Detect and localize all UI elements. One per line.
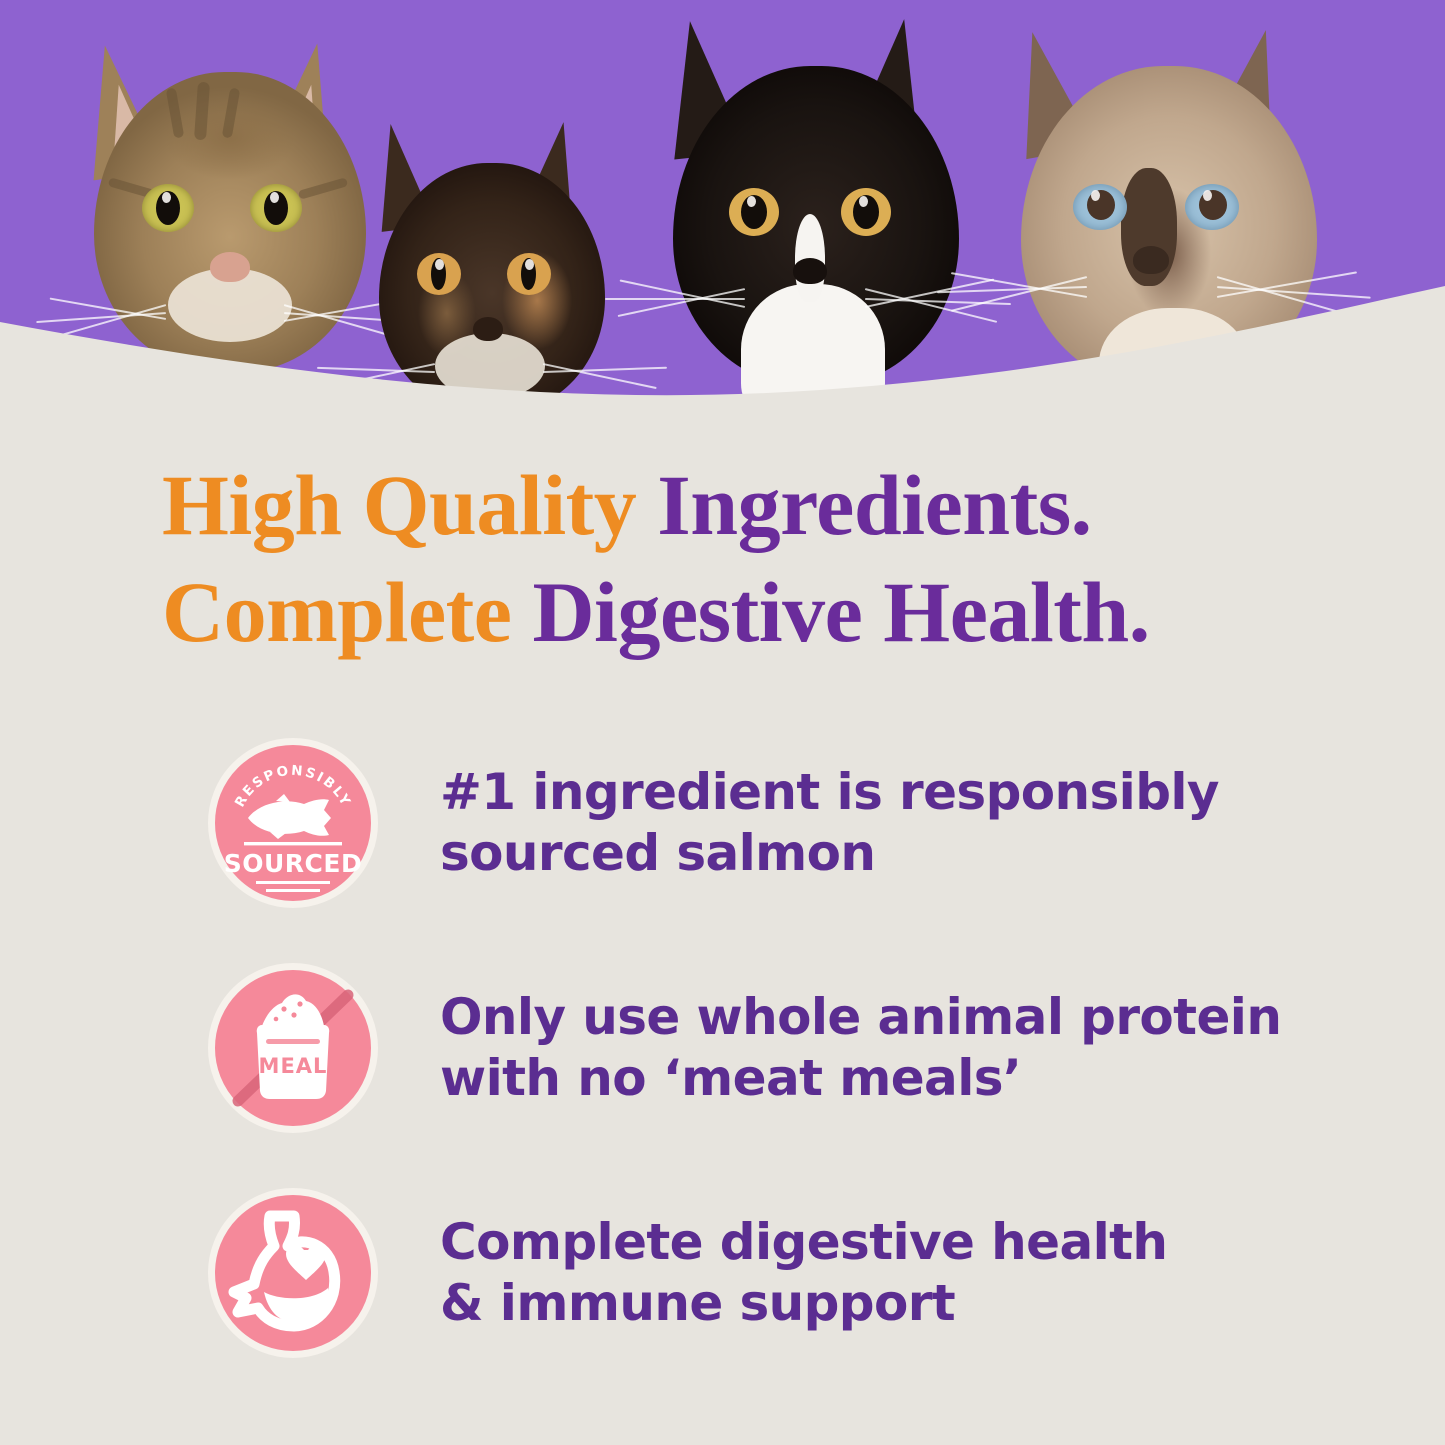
headline-line-1: High Quality Ingredients. bbox=[162, 452, 1342, 559]
feature-row-responsibly-sourced: RESPONSIBLY SOURCED #1 ingredient is res… bbox=[208, 728, 1348, 918]
meal-bag-label: MEAL bbox=[259, 1054, 328, 1078]
meal-bag-glyph: MEAL bbox=[208, 963, 378, 1133]
tortoiseshell-kitten bbox=[355, 105, 630, 420]
stomach-heart-digestive-health-icon bbox=[208, 1188, 378, 1358]
headline-line-1-purple: Ingredients. bbox=[657, 457, 1091, 553]
cat-group bbox=[0, 0, 1445, 420]
feature-list: RESPONSIBLY SOURCED #1 ingredient is res… bbox=[208, 728, 1348, 1368]
no-meat-meal-bag-icon: MEAL bbox=[208, 963, 378, 1133]
feature-row-digestive-health: Complete digestive health & immune suppo… bbox=[208, 1178, 1348, 1368]
feature-text-line-2: sourced salmon bbox=[440, 823, 1219, 884]
headline-line-2-purple: Digestive Health. bbox=[532, 564, 1149, 660]
headline-line-1-orange: High Quality bbox=[162, 457, 657, 553]
cat-eye-glint bbox=[747, 196, 756, 207]
cat-nose bbox=[210, 252, 250, 282]
cat-eye-glint bbox=[162, 192, 171, 203]
feature-row-no-meat-meals: MEAL Only use whole animal protein with … bbox=[208, 953, 1348, 1143]
cat-eye-glint bbox=[1091, 190, 1100, 201]
feature-text-no-meat-meals: Only use whole animal protein with no ‘m… bbox=[440, 987, 1281, 1109]
ragdoll-cat bbox=[995, 8, 1345, 420]
cat-eye-glint bbox=[435, 259, 444, 270]
cat-nose bbox=[1133, 246, 1169, 274]
cat-eye-glint bbox=[859, 196, 868, 207]
svg-text:SOURCED: SOURCED bbox=[224, 849, 363, 878]
cat-whisker bbox=[605, 298, 745, 300]
feature-text-line-1: Only use whole animal protein bbox=[440, 987, 1281, 1048]
tuxedo-cat bbox=[645, 6, 985, 420]
cat-eye-glint bbox=[525, 259, 534, 270]
cat-eye-glint bbox=[270, 192, 279, 203]
feature-text-responsibly-sourced: #1 ingredient is responsibly sourced sal… bbox=[440, 762, 1219, 884]
feature-text-line-1: Complete digestive health bbox=[440, 1212, 1167, 1273]
cat-eye-glint bbox=[1203, 190, 1212, 201]
stomach-heart-glyph bbox=[208, 1188, 378, 1358]
cat-nose bbox=[793, 258, 827, 284]
responsibly-sourced-badge-glyph: RESPONSIBLY SOURCED bbox=[208, 738, 378, 908]
feature-text-line-2: & immune support bbox=[440, 1273, 1167, 1334]
responsibly-sourced-fish-badge-icon: RESPONSIBLY SOURCED bbox=[208, 738, 378, 908]
brown-tabby-cat bbox=[70, 16, 390, 420]
cat-photo-banner bbox=[0, 0, 1445, 420]
cat-muzzle bbox=[435, 333, 545, 399]
headline-line-2: Complete Digestive Health. bbox=[162, 559, 1342, 666]
feature-text-digestive-health: Complete digestive health & immune suppo… bbox=[440, 1212, 1167, 1334]
page-title: High Quality Ingredients. Complete Diges… bbox=[162, 452, 1342, 665]
cat-nose bbox=[473, 317, 503, 341]
feature-text-line-2: with no ‘meat meals’ bbox=[440, 1048, 1281, 1109]
feature-text-line-1: #1 ingredient is responsibly bbox=[440, 762, 1219, 823]
product-benefits-poster: High Quality Ingredients. Complete Diges… bbox=[0, 0, 1445, 1445]
headline-line-2-orange: Complete bbox=[162, 564, 532, 660]
